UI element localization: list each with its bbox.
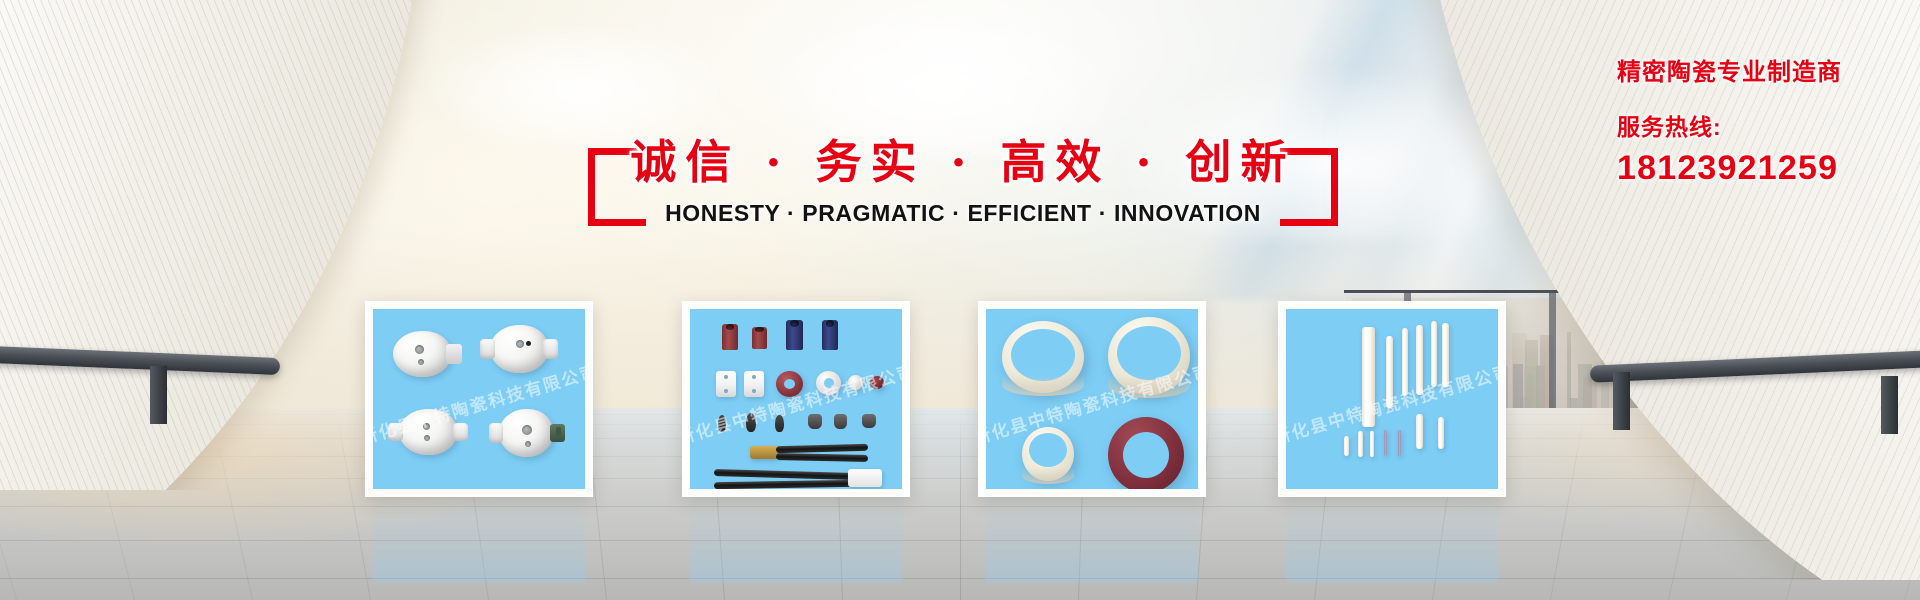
contact-block: 精密陶瓷专业制造商 服务热线: 18123921259: [1617, 52, 1842, 188]
ceramic-ring-large: [1108, 317, 1190, 395]
railing-support-post: [1613, 372, 1630, 430]
metal-terminal: [808, 414, 822, 429]
holder-body: [490, 325, 548, 373]
holder-hole: [423, 423, 430, 430]
hero-banner: 诚信 · 务实 · 高效 · 创新 HONESTY · PRAGMATIC · …: [0, 0, 1920, 600]
ring-lip: [1108, 375, 1190, 398]
ceramic-rod: [1416, 325, 1423, 395]
ceramic-ring-red: [1108, 417, 1184, 489]
ring-lip: [1002, 374, 1084, 396]
wire-brass-connector: [750, 446, 778, 459]
holder-hole: [526, 341, 531, 346]
product-panel-ceramic-lamp-holders[interactable]: 新化县中特陶瓷科技有限公司: [365, 301, 593, 497]
product-panel-ceramic-tubes[interactable]: 新化县中特陶瓷科技有限公司: [682, 301, 910, 497]
hotline-number[interactable]: 18123921259: [1617, 149, 1842, 188]
ceramic-ring-small: [1022, 427, 1074, 481]
black-wire: [714, 480, 854, 489]
lamp-holder: [393, 331, 451, 377]
tube-bore: [726, 324, 735, 330]
ceramic-tube-blue: [822, 320, 838, 350]
panel-photo: 新化县中特陶瓷科技有限公司: [1286, 309, 1498, 489]
ceramic-ring-large: [1002, 321, 1084, 393]
railing-support-post: [150, 366, 167, 424]
metal-terminal: [862, 414, 876, 428]
holder-hole: [418, 359, 424, 365]
ceramic-tube-red: [752, 327, 767, 349]
black-wire: [776, 444, 868, 453]
holder-hole: [415, 345, 424, 354]
black-wire: [776, 453, 868, 462]
holder-hole: [424, 435, 430, 441]
ring-bore: [1117, 326, 1181, 380]
company-tagline: 精密陶瓷专业制造商: [1617, 52, 1842, 87]
ceramic-plate: [716, 371, 736, 397]
holder-wing: [489, 423, 503, 442]
ceramic-rod-mini: [1370, 431, 1374, 457]
product-panel-ceramic-rods[interactable]: 新化县中特陶瓷科技有限公司: [1278, 301, 1506, 497]
ceramic-rod: [1442, 323, 1449, 387]
holder-wing: [388, 423, 403, 441]
lamp-holder: [399, 409, 457, 455]
ring-bore: [1029, 433, 1067, 467]
ceramic-rod-mini: [1344, 436, 1349, 456]
ceramic-cap-white: [848, 375, 863, 390]
tube-bore: [826, 320, 835, 327]
holder-hole: [525, 441, 531, 447]
holder-stub: [446, 344, 462, 364]
slogan-english: HONESTY · PRAGMATIC · EFFICIENT · INNOVA…: [588, 200, 1338, 227]
ceramic-ring-white: [816, 371, 841, 395]
tube-bore: [755, 327, 763, 332]
ring-bore: [1123, 432, 1169, 478]
ceramic-ring-red: [776, 371, 803, 397]
ceramic-rod-short: [1438, 417, 1444, 449]
holder-body: [399, 409, 457, 455]
ceramic-rod-purple: [1398, 430, 1401, 456]
metal-clip: [775, 415, 784, 432]
ceramic-tube-red: [722, 324, 738, 350]
ceramic-rod-purple: [1384, 430, 1387, 456]
ring-bore: [1011, 329, 1075, 381]
metal-clip: [746, 413, 756, 432]
wire-white-connector: [848, 469, 882, 487]
ceramic-rod: [1402, 328, 1408, 396]
ring-lip: [1022, 468, 1074, 484]
tube-bore: [790, 320, 800, 327]
railing-support-post: [1881, 376, 1898, 434]
product-panel-ceramic-rings[interactable]: 新化县中特陶瓷科技有限公司: [978, 301, 1206, 497]
holder-hole: [522, 425, 532, 435]
lamp-holder: [499, 409, 553, 457]
ceramic-plate: [744, 371, 764, 397]
ceramic-rod-short: [1416, 414, 1423, 449]
ceramic-cap-red: [870, 376, 884, 389]
ceramic-rod-thick: [1362, 327, 1375, 427]
ceramic-tube-blue: [786, 320, 803, 350]
metal-clip: [718, 415, 726, 432]
metal-terminal: [834, 414, 847, 429]
holder-body: [393, 331, 451, 377]
lamp-holder: [490, 325, 548, 373]
panel-photo: 新化县中特陶瓷科技有限公司: [986, 309, 1198, 489]
ceramic-rod: [1431, 321, 1437, 387]
panel-photo: 新化县中特陶瓷科技有限公司: [373, 309, 585, 489]
headline-block: 诚信 · 务实 · 高效 · 创新 HONESTY · PRAGMATIC · …: [588, 148, 1338, 226]
slogan-chinese: 诚信 · 务实 · 高效 · 创新: [588, 126, 1338, 192]
holder-wing: [480, 339, 495, 358]
ceramic-rod-mini: [1358, 431, 1363, 457]
panel-photo: 新化县中特陶瓷科技有限公司: [690, 309, 902, 489]
holder-wing: [453, 423, 468, 441]
hotline-label: 服务热线:: [1617, 108, 1842, 142]
holder-pin: [556, 427, 561, 436]
ceramic-rod: [1386, 336, 1393, 408]
holder-hole: [516, 340, 524, 348]
black-wire: [714, 469, 854, 480]
holder-wing: [543, 339, 558, 358]
